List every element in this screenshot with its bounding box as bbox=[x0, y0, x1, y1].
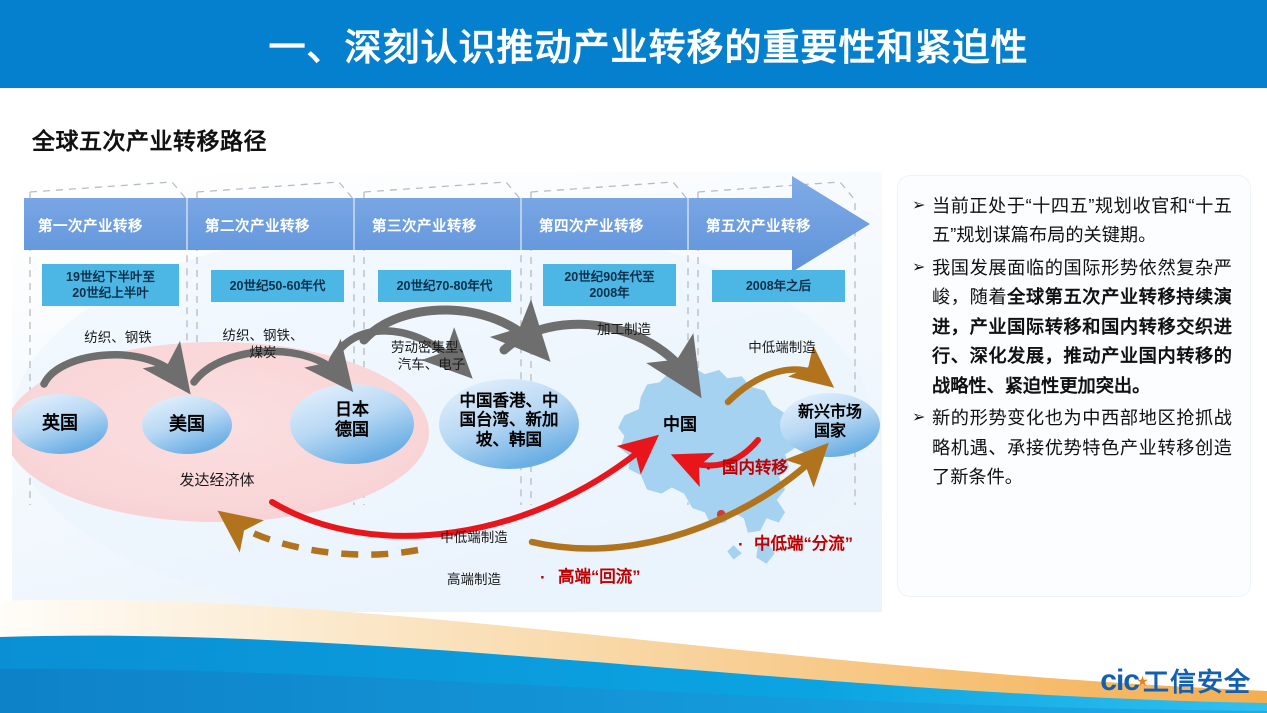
star-icon: ★ bbox=[1136, 673, 1148, 690]
footer-decoration bbox=[0, 595, 1267, 713]
logo-mark: cic★ bbox=[1100, 664, 1139, 698]
caption-textiles-steel: 纺织、钢铁 bbox=[58, 330, 178, 347]
caption-midlow-manufacturing-bottom: 中低端制造 bbox=[422, 530, 526, 547]
section-subtitle: 全球五次产业转移路径 bbox=[32, 122, 267, 156]
bullet-arrow-icon: ➢ bbox=[912, 404, 932, 492]
industry-transfer-diagram: 第一次产业转移 第二次产业转移 第三次产业转移 第四次产业转移 第五次产业转移 … bbox=[12, 172, 882, 612]
caption-midlow-manufacturing-top: 中低端制造 bbox=[730, 340, 834, 357]
bullet-dot-domestic: · bbox=[706, 459, 712, 479]
node-label-britain: 英国 bbox=[18, 413, 102, 434]
stage-label-4: 第四次产业转移 bbox=[539, 215, 644, 236]
key-point-item: ➢ 我国发展面临的国际形势依然复杂严峻，随着全球第五次产业转移持续演进，产业国际… bbox=[912, 254, 1232, 401]
highlight-domestic-transfer: 国内转移 bbox=[722, 454, 788, 478]
stage-label-3: 第三次产业转移 bbox=[372, 215, 477, 236]
slide-title-bar: 一、深刻认识推动产业转移的重要性和紧迫性 bbox=[0, 0, 1267, 88]
caption-processing-manufacturing: 加工制造 bbox=[577, 322, 671, 339]
bullet-dot-reflow: · bbox=[540, 568, 546, 588]
key-point-item: ➢ 当前正处于“十四五”规划收官和“十五五”规划谋篇布局的关键期。 bbox=[912, 192, 1232, 251]
caption-labor-auto-electronics: 劳动密集型、 汽车、电子 bbox=[374, 340, 489, 374]
era-box-5: 2008年之后 bbox=[712, 270, 845, 302]
key-point-item: ➢ 新的形势变化也为中西部地区抢抓战略机遇、承接优势特色产业转移创造了新条件。 bbox=[912, 404, 1232, 492]
key-point-text: 我国发展面临的国际形势依然复杂严峻，随着全球第五次产业转移持续演进，产业国际转移… bbox=[932, 254, 1232, 401]
node-label-china: 中国 bbox=[648, 415, 712, 435]
key-point-text: 新的形势变化也为中西部地区抢抓战略机遇、承接优势特色产业转移创造了新条件。 bbox=[932, 404, 1232, 492]
slide-title: 一、深刻认识推动产业转移的重要性和紧迫性 bbox=[0, 0, 1267, 88]
node-label-emerging-markets: 新兴市场 国家 bbox=[784, 404, 876, 442]
key-point-text: 当前正处于“十四五”规划收官和“十五五”规划谋篇布局的关键期。 bbox=[932, 192, 1232, 251]
highlight-midlow-diversion: 中低端“分流” bbox=[754, 530, 853, 554]
bullet-dot-diversion: · bbox=[738, 535, 744, 555]
era-box-1: 19世纪下半叶至 20世纪上半叶 bbox=[42, 264, 179, 306]
brand-logo: cic★ 工信安全 bbox=[1100, 662, 1251, 699]
era-box-4: 20世纪90年代至 2008年 bbox=[543, 264, 676, 306]
stage-label-2: 第二次产业转移 bbox=[205, 215, 310, 236]
region-label-developed-economies: 发达经济体 bbox=[147, 472, 287, 491]
node-label-asian-tigers: 中国香港、中 国台湾、新加 坡、韩国 bbox=[449, 392, 569, 450]
stage-label-1: 第一次产业转移 bbox=[38, 215, 143, 236]
key-points-list: ➢ 当前正处于“十四五”规划收官和“十五五”规划谋篇布局的关键期。 ➢ 我国发展… bbox=[898, 176, 1250, 506]
caption-textiles-steel-coal: 纺织、钢铁、 煤炭 bbox=[208, 328, 318, 362]
slide-canvas: 一、深刻认识推动产业转移的重要性和紧迫性 全球五次产业转移路径 bbox=[0, 0, 1267, 713]
bullet-arrow-icon: ➢ bbox=[912, 254, 932, 401]
highlight-highend-reflow: 高端“回流” bbox=[558, 563, 641, 587]
node-label-usa: 美国 bbox=[147, 414, 227, 435]
key-points-panel: ➢ 当前正处于“十四五”规划收官和“十五五”规划谋篇布局的关键期。 ➢ 我国发展… bbox=[898, 176, 1250, 596]
era-box-3: 20世纪70-80年代 bbox=[378, 270, 511, 302]
bullet-arrow-icon: ➢ bbox=[912, 192, 932, 251]
node-label-japan-germany: 日本 德国 bbox=[304, 400, 400, 440]
era-box-2: 20世纪50-60年代 bbox=[211, 270, 344, 302]
caption-highend-manufacturing: 高端制造 bbox=[422, 572, 526, 589]
stage-label-5: 第五次产业转移 bbox=[706, 215, 811, 236]
logo-text: 工信安全 bbox=[1143, 662, 1251, 699]
